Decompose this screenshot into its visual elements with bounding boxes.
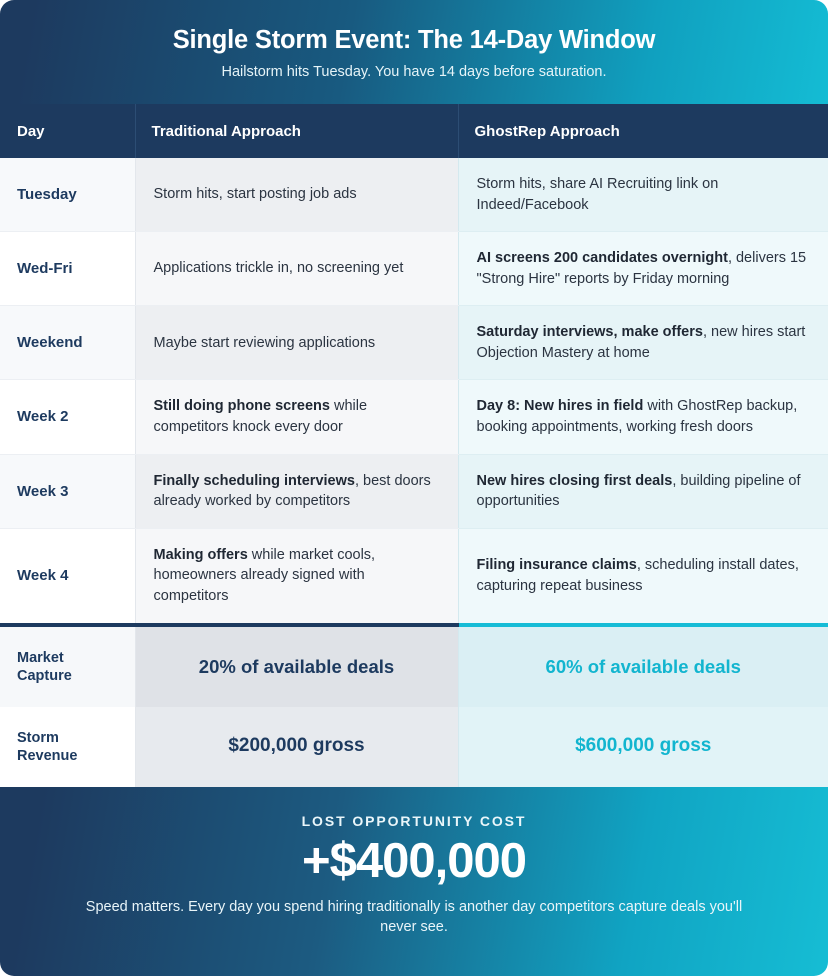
summary-row-storm-revenue: Storm Revenue $200,000 gross $600,000 gr… — [0, 707, 828, 787]
column-header-ghostrep: GhostRep Approach — [458, 104, 828, 158]
card-footer: LOST OPPORTUNITY COST +$400,000 Speed ma… — [0, 787, 828, 976]
summary-traditional-value: 20% of available deals — [135, 625, 458, 707]
row-traditional-cell: Making offers while market cools, homeow… — [135, 528, 458, 624]
cell-emphasis: AI screens 200 candidates overnight — [477, 250, 728, 266]
summary-row-market-capture: Market Capture 20% of available deals 60… — [0, 625, 828, 707]
page-subtitle: Hailstorm hits Tuesday. You have 14 days… — [24, 64, 804, 81]
row-day-label: Week 2 — [0, 380, 135, 454]
table-row: Wed-Fri Applications trickle in, no scre… — [0, 232, 828, 306]
row-ghostrep-cell: AI screens 200 candidates overnight, del… — [458, 232, 828, 306]
row-day-label: Week 3 — [0, 454, 135, 528]
column-header-day: Day — [0, 104, 135, 158]
comparison-card: Single Storm Event: The 14-Day Window Ha… — [0, 0, 828, 976]
row-day-label: Tuesday — [0, 158, 135, 232]
cell-emphasis: Making offers — [154, 547, 248, 563]
cell-emphasis: Finally scheduling interviews — [154, 473, 355, 489]
row-day-label: Wed-Fri — [0, 232, 135, 306]
footer-amount-value: +$400,000 — [40, 833, 788, 889]
cell-text-plain: Maybe start reviewing applications — [154, 335, 376, 351]
table-header: Day Traditional Approach GhostRep Approa… — [0, 104, 828, 158]
column-header-traditional: Traditional Approach — [135, 104, 458, 158]
cell-emphasis: New hires closing first deals — [477, 473, 673, 489]
table-row: Week 4 Making offers while market cools,… — [0, 528, 828, 624]
cell-emphasis: Day 8: New hires in field — [477, 398, 644, 414]
table-row: Week 2 Still doing phone screens while c… — [0, 380, 828, 454]
table-row: Week 3 Finally scheduling interviews, be… — [0, 454, 828, 528]
footer-kicker-label: LOST OPPORTUNITY COST — [40, 813, 788, 829]
page-title: Single Storm Event: The 14-Day Window — [24, 26, 804, 55]
summary-label: Storm Revenue — [0, 707, 135, 787]
cell-text: Storm hits, share AI Recruiting link on … — [477, 176, 719, 213]
cell-emphasis: Saturday interviews, make offers — [477, 324, 703, 340]
footer-note-text: Speed matters. Every day you spend hirin… — [74, 897, 754, 937]
summary-ghostrep-value: $600,000 gross — [458, 707, 828, 787]
table-row: Tuesday Storm hits, start posting job ad… — [0, 158, 828, 232]
cell-text-plain: Storm hits, start posting job ads — [154, 186, 357, 202]
cell-emphasis: Still doing phone screens — [154, 398, 330, 414]
cell-text-plain: Applications trickle in, no screening ye… — [154, 260, 404, 276]
row-ghostrep-cell: Day 8: New hires in field with GhostRep … — [458, 380, 828, 454]
comparison-table: Day Traditional Approach GhostRep Approa… — [0, 104, 828, 787]
summary-label: Market Capture — [0, 625, 135, 707]
summary-label-line2: Revenue — [17, 748, 77, 764]
row-traditional-cell: Storm hits, start posting job ads — [135, 158, 458, 232]
summary-label-line1: Storm — [17, 730, 59, 746]
row-ghostrep-cell: Filing insurance claims, scheduling inst… — [458, 528, 828, 624]
table-header-row: Day Traditional Approach GhostRep Approa… — [0, 104, 828, 158]
row-ghostrep-cell: Saturday interviews, make offers, new hi… — [458, 306, 828, 380]
row-traditional-cell: Still doing phone screens while competit… — [135, 380, 458, 454]
row-ghostrep-cell: New hires closing first deals, building … — [458, 454, 828, 528]
table-row: Weekend Maybe start reviewing applicatio… — [0, 306, 828, 380]
row-traditional-cell: Finally scheduling interviews, best door… — [135, 454, 458, 528]
card-header: Single Storm Event: The 14-Day Window Ha… — [0, 0, 828, 104]
row-day-label: Week 4 — [0, 528, 135, 624]
row-traditional-cell: Maybe start reviewing applications — [135, 306, 458, 380]
cell-emphasis: Filing insurance claims — [477, 557, 637, 573]
table-body: Tuesday Storm hits, start posting job ad… — [0, 158, 828, 787]
row-traditional-cell: Applications trickle in, no screening ye… — [135, 232, 458, 306]
summary-ghostrep-value: 60% of available deals — [458, 625, 828, 707]
summary-traditional-value: $200,000 gross — [135, 707, 458, 787]
row-ghostrep-cell: Storm hits, share AI Recruiting link on … — [458, 158, 828, 232]
summary-label-line1: Market — [17, 650, 64, 666]
summary-label-line2: Capture — [17, 668, 72, 684]
row-day-label: Weekend — [0, 306, 135, 380]
